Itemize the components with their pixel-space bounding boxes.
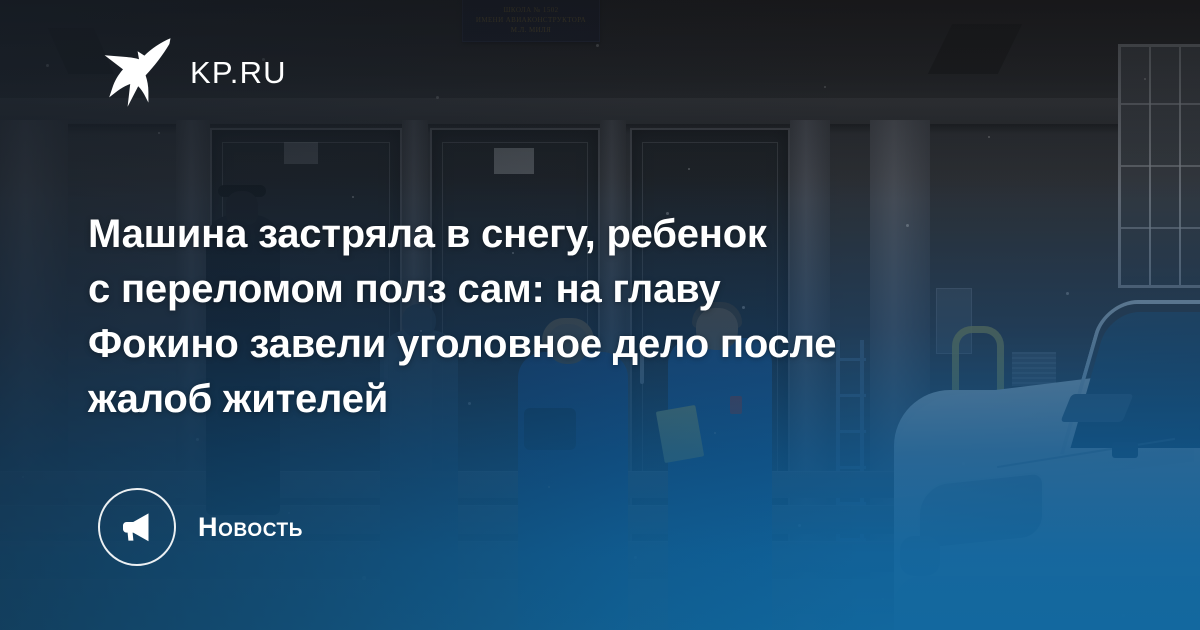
headline-line-2: с переломом полз сам: на главу [88, 262, 1068, 317]
news-share-card: ШКОЛА № 1502 ИМЕНИ АВИАКОНСТРУКТОРА М.Л.… [0, 0, 1200, 630]
brand-lockup[interactable]: KP.RU [104, 36, 287, 108]
card-content: KP.RU Машина застряла в снегу, ребенок с… [0, 0, 1200, 630]
page-title: Машина застряла в снегу, ребенок с перел… [88, 207, 1068, 427]
headline-line-3: Фокино завели уголовное дело после [88, 317, 1068, 372]
megaphone-icon [117, 507, 157, 547]
megaphone-icon-circle [98, 488, 176, 566]
brand-name: KP.RU [190, 57, 287, 88]
swallow-bird-icon [104, 36, 172, 108]
status-badge[interactable]: Новость [98, 488, 303, 566]
headline-line-1: Машина застряла в снегу, ребенок [88, 207, 1068, 262]
status-badge-label: Новость [198, 512, 303, 543]
headline-line-4: жалоб жителей [88, 372, 1068, 427]
